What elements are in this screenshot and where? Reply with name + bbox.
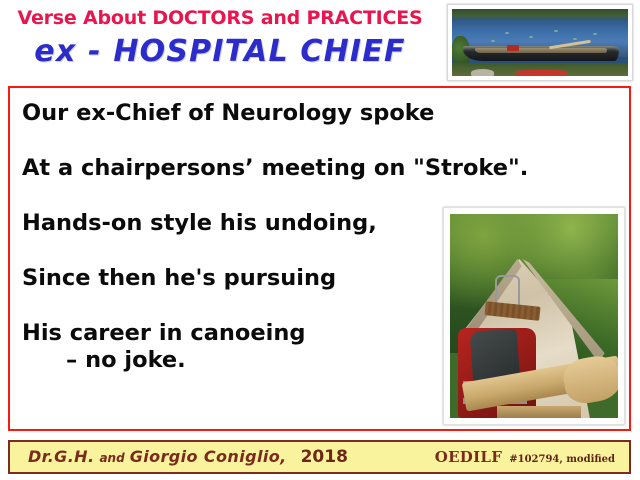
canoe-seat xyxy=(507,45,519,51)
lilypad-icon xyxy=(554,30,558,32)
lilypad-icon xyxy=(491,40,495,42)
slide-header: Verse About DOCTORS and PRACTICES ex - H… xyxy=(0,6,440,82)
canoe-interior xyxy=(475,48,607,54)
page-title: Verse About DOCTORS and PRACTICES xyxy=(0,6,440,30)
slide-canvas: Verse About DOCTORS and PRACTICES ex - H… xyxy=(0,0,640,480)
author-secondary: Giorgio Coniglio, xyxy=(130,447,287,466)
lilypad-icon xyxy=(593,33,597,35)
source-name: OEDILF xyxy=(435,448,503,466)
canoe-seat xyxy=(497,406,581,418)
canoe-interior-photo-frame xyxy=(443,207,625,425)
canoe-hull xyxy=(463,46,620,61)
lilypad-icon xyxy=(505,32,509,34)
tree-reflection xyxy=(452,9,628,20)
poem-line-2: At a chairpersons’ meeting on "Stroke". xyxy=(22,155,622,182)
source-reference: #102794, modified xyxy=(509,454,615,465)
footer-source: OEDILF #102794, modified xyxy=(435,448,615,466)
shore-rock xyxy=(471,69,494,76)
copyright-year: 2018 xyxy=(301,447,348,467)
poem-line-1: Our ex-Chief of Neurology spoke xyxy=(22,100,622,127)
red-kayak xyxy=(515,70,568,75)
footer-credit: Dr.G.H. and Giorgio Coniglio, 2018 xyxy=(28,447,348,467)
author-primary: Dr.G.H. xyxy=(28,447,94,466)
author-conjunction: and xyxy=(99,451,124,465)
canoe-on-water-photo-frame xyxy=(447,4,633,81)
canoe-on-water-photo xyxy=(452,9,628,76)
page-subtitle: ex - HOSPITAL CHIEF xyxy=(0,32,440,72)
canoe-interior-photo xyxy=(450,214,618,418)
footer-bar: Dr.G.H. and Giorgio Coniglio, 2018 OEDIL… xyxy=(8,440,631,474)
